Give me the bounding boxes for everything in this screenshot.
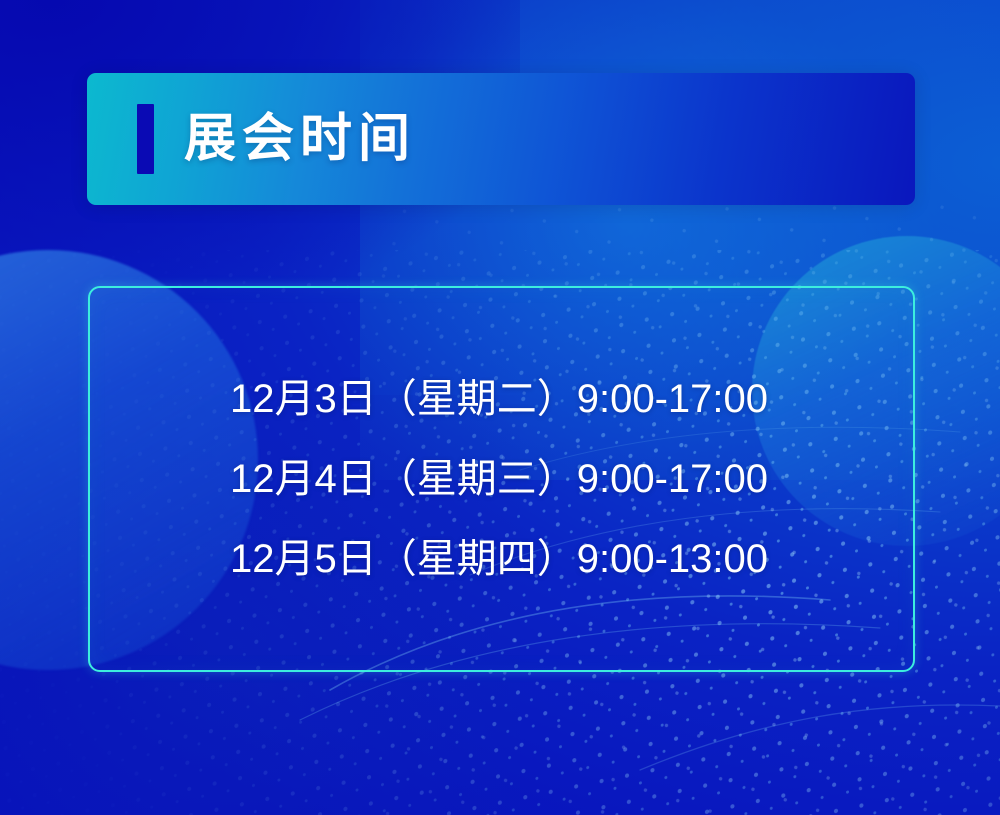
page-title: 展会时间 [184,113,416,165]
schedule-row: 12月3日（星期二）9:00-17:00 [230,359,913,439]
exhibition-time-poster: 展会时间 12月3日（星期二）9:00-17:00 12月4日（星期三）9:00… [0,0,1000,815]
section-banner: 展会时间 [87,73,915,205]
schedule-row: 12月4日（星期三）9:00-17:00 [230,439,913,519]
banner-accent-bar [137,104,154,174]
schedule-card: 12月3日（星期二）9:00-17:00 12月4日（星期三）9:00-17:0… [88,286,915,672]
schedule-row: 12月5日（星期四）9:00-13:00 [230,519,913,599]
